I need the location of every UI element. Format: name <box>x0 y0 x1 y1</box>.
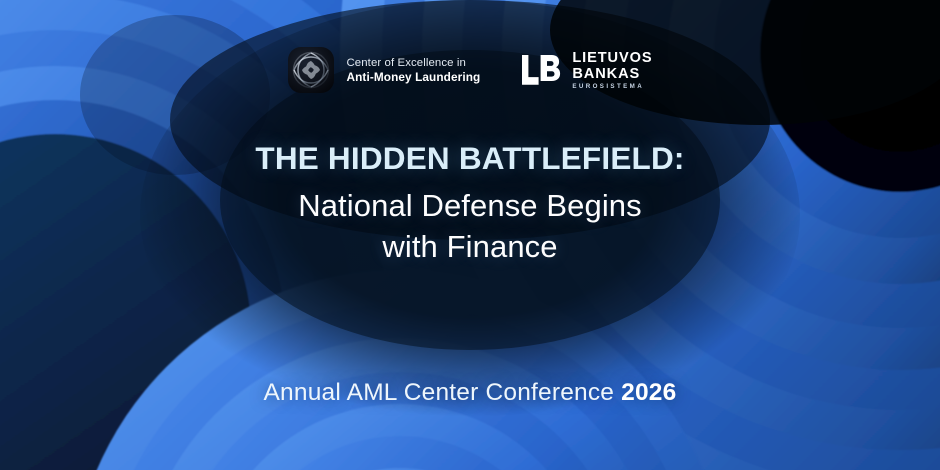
lb-logo-line3: EUROSISTEMA <box>572 84 652 91</box>
lb-monogram-icon <box>520 53 561 87</box>
lb-logo-line1: LIETUVOS <box>572 50 652 66</box>
lietuvos-bankas-logo: LIETUVOS BANKAS EUROSISTEMA <box>520 50 652 91</box>
conference-subtitle: National Defense Begins with Finance <box>255 185 684 267</box>
conference-banner: Center of Excellence in Anti-Money Laund… <box>0 0 940 470</box>
coe-logo-line2: Anti-Money Laundering <box>346 70 480 85</box>
headline-block: THE HIDDEN BATTLEFIELD: National Defense… <box>255 140 684 268</box>
coe-logo-line1: Center of Excellence in <box>346 56 480 70</box>
logo-bar: Center of Excellence in Anti-Money Laund… <box>287 46 652 94</box>
lb-logo-line2: BANKAS <box>572 66 652 82</box>
coe-logo: Center of Excellence in Anti-Money Laund… <box>287 46 480 94</box>
conference-subtitle-line1: National Defense Begins <box>255 185 684 226</box>
conference-title: THE HIDDEN BATTLEFIELD: <box>255 140 684 177</box>
coe-flower-mark-icon <box>287 46 335 94</box>
conference-subtitle-line2: with Finance <box>255 226 684 267</box>
